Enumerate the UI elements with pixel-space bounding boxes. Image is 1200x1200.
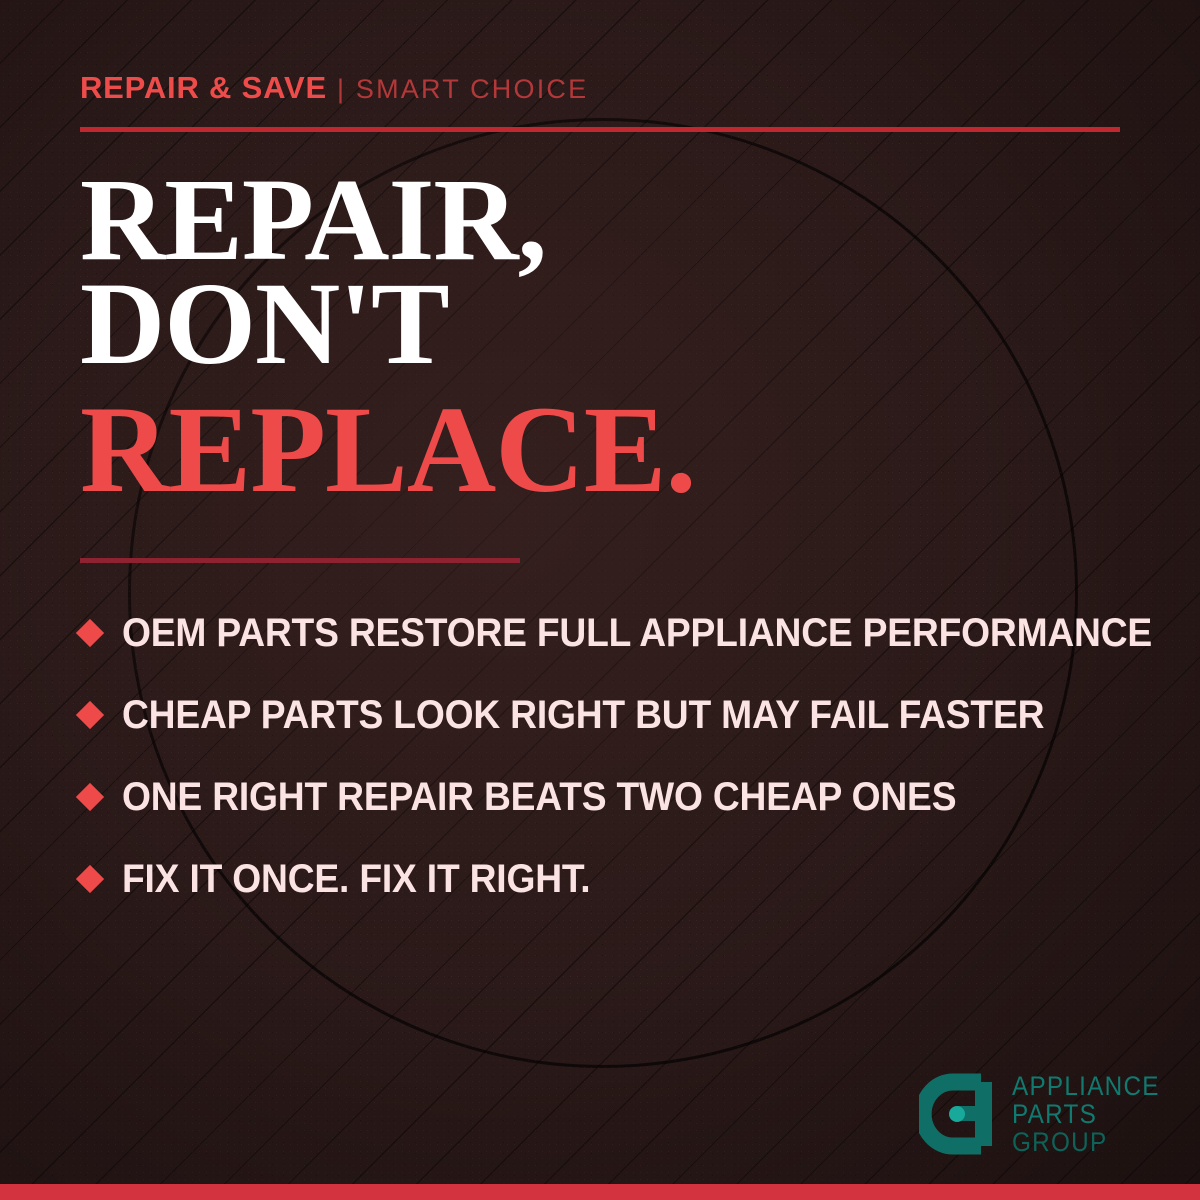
list-item: ONE RIGHT REPAIR BEATS TWO CHEAP ONES	[80, 756, 1160, 838]
headline-divider-rule	[80, 558, 520, 563]
list-item: OEM PARTS RESTORE FULL APPLIANCE PERFORM…	[80, 592, 1160, 674]
diamond-bullet-icon	[76, 701, 104, 729]
page-title: REPAIR, DON'T REPLACE.	[80, 168, 696, 502]
headline-line-1: REPAIR,	[80, 168, 696, 272]
brand-word-line-3: GROUP	[1012, 1128, 1160, 1156]
brand-word-line-1: APPLIANCE	[1012, 1072, 1160, 1100]
poster-canvas: REPAIR & SAVE| SMART CHOICE REPAIR, DON'…	[0, 0, 1200, 1200]
brand-logo-wordmark: APPLIANCE PARTS GROUP	[1012, 1072, 1176, 1156]
eyebrow-main-label: REPAIR & SAVE	[80, 70, 327, 105]
brand-logo: APPLIANCE PARTS GROUP	[919, 1070, 1176, 1158]
list-item: CHEAP PARTS LOOK RIGHT BUT MAY FAIL FAST…	[80, 674, 1160, 756]
brand-word-line-2: PARTS	[1012, 1100, 1160, 1128]
g-monogram-icon	[919, 1070, 999, 1158]
diamond-bullet-icon	[76, 783, 104, 811]
bottom-accent-bar	[0, 1184, 1200, 1200]
list-item-label: CHEAP PARTS LOOK RIGHT BUT MAY FAIL FAST…	[122, 695, 1044, 735]
list-item-label: OEM PARTS RESTORE FULL APPLIANCE PERFORM…	[122, 613, 1152, 653]
list-item-label: ONE RIGHT REPAIR BEATS TWO CHEAP ONES	[122, 777, 956, 817]
list-item-label: FIX IT ONCE. FIX IT RIGHT.	[122, 859, 590, 899]
headline-line-2: DON'T	[80, 272, 696, 376]
eyebrow-sub-label: | SMART CHOICE	[337, 74, 588, 104]
diamond-bullet-icon	[76, 865, 104, 893]
eyebrow: REPAIR & SAVE| SMART CHOICE	[80, 72, 588, 103]
benefit-list: OEM PARTS RESTORE FULL APPLIANCE PERFORM…	[80, 592, 1160, 920]
header-divider-rule	[80, 127, 1120, 132]
headline-line-3: REPLACE.	[80, 376, 696, 502]
diamond-bullet-icon	[76, 619, 104, 647]
list-item: FIX IT ONCE. FIX IT RIGHT.	[80, 838, 1160, 920]
